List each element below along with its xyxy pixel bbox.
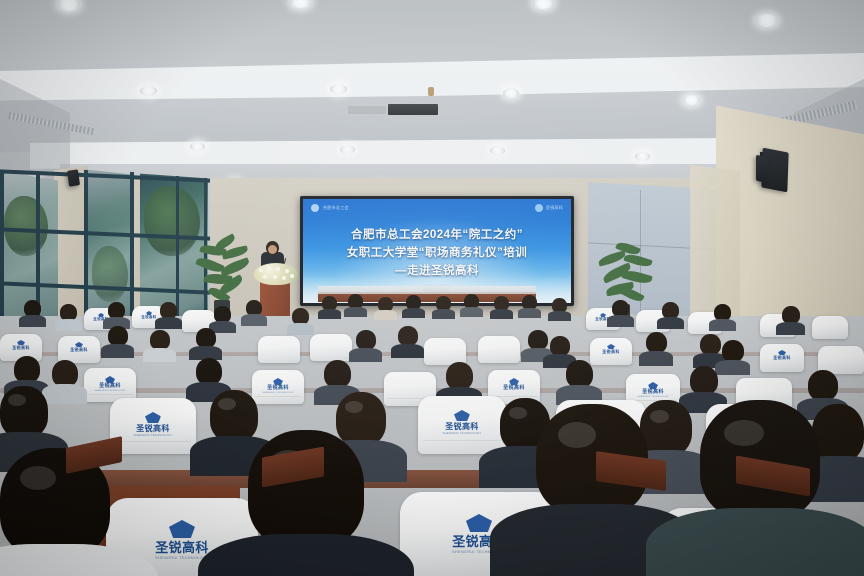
seat-logo: 圣锐高科 SHENGRUI TECHNOLOGY [637, 382, 668, 398]
attendee [690, 366, 718, 404]
seat-logo-english: SHENGRUI TECHNOLOGY [443, 432, 482, 435]
seat-logo-chinese: 圣锐高科 [155, 541, 209, 554]
ceiling-vent-box [348, 106, 386, 114]
seat: 圣锐高科 SHENGRUI TECHNOLOGY [252, 370, 304, 404]
seat: 圣锐高科 SHENGRUI TECHNOLOGY [110, 398, 196, 454]
company-logo-icon [535, 204, 543, 212]
attendee [552, 298, 567, 318]
seat-logo: 圣锐高科 SHENGRUI TECHNOLOGY [262, 378, 293, 394]
attendee [436, 296, 451, 316]
downlight [140, 86, 157, 96]
attendee [378, 297, 393, 317]
attendee [494, 296, 509, 316]
wall-mounted-loudspeaker [756, 155, 768, 184]
attendee [348, 294, 363, 314]
seat [310, 334, 352, 361]
sprinkler-head-icon [428, 87, 434, 96]
screen-title-line-1: 合肥市总工会2024年“院工之约” [303, 226, 571, 242]
attendee [700, 334, 721, 362]
attendee [292, 308, 309, 331]
attendee [528, 330, 548, 357]
seat: 圣锐高科 [760, 344, 804, 372]
seat-logo: 圣锐高科 SHENGRUI TECHNOLOGY [134, 412, 173, 437]
attendee [612, 300, 629, 323]
downlight [756, 14, 778, 27]
seat: 圣锐高科 [590, 338, 632, 365]
attendee [52, 360, 78, 395]
attendee [722, 340, 744, 369]
seat-logo-chinese: 圣锐高科 [136, 425, 170, 433]
seat-logo: 圣锐高科 SHENGRUI TECHNOLOGY [155, 520, 209, 560]
downlight [330, 84, 347, 94]
crown-emblem-icon [169, 520, 195, 538]
screen-logo-left: 合肥市总工会 [311, 204, 349, 212]
downlight [683, 95, 700, 105]
seat-logo: 圣锐高科 [503, 378, 525, 391]
downlight [290, 0, 311, 8]
attendee [446, 362, 473, 398]
seat-logo-chinese: 圣锐高科 [70, 348, 88, 352]
seat-logo-chinese: 圣锐高科 [12, 346, 30, 350]
seat-logo-chinese: 圣锐高科 [773, 356, 791, 360]
attendee [196, 328, 216, 355]
seat: 圣锐高科 SHENGRUI TECHNOLOGY [84, 368, 136, 402]
seat-logo-chinese: 圣锐高科 [267, 386, 289, 391]
attendee [160, 302, 177, 325]
downlight [340, 145, 355, 154]
seat [258, 336, 300, 363]
seat: 圣锐高科 SHENGRUI TECHNOLOGY [418, 396, 506, 454]
attendee [566, 360, 593, 396]
attendee [196, 358, 222, 393]
seat [478, 336, 520, 363]
attendee [646, 332, 667, 360]
seat-logo: 圣锐高科 [70, 342, 88, 352]
seat-logo-chinese: 圣锐高科 [141, 316, 156, 319]
crown-emblem-icon [145, 412, 161, 423]
attendee [398, 326, 418, 353]
attendee [714, 304, 731, 327]
conference-hall-photo: 合肥市总工会 圣锐高科 合肥市总工会2024年“院工之约” 女职工大学堂“职场商… [0, 0, 864, 576]
seat-logo: 圣锐高科 SHENGRUI TECHNOLOGY [94, 376, 125, 392]
attendee [464, 294, 479, 314]
stage-table-cloth [318, 286, 536, 294]
attendee [150, 330, 170, 357]
attendee [0, 386, 48, 452]
attendee [246, 300, 262, 322]
seat-logo-chinese: 圣锐高科 [642, 390, 664, 395]
seat-logo: 圣锐高科 [773, 350, 791, 360]
crown-emblem-icon [509, 378, 519, 385]
ceiling-projector [388, 104, 438, 115]
attendee [324, 360, 351, 396]
attendee [550, 336, 570, 363]
attendee [108, 302, 125, 325]
seat-logo: 圣锐高科 SHENGRUI TECHNOLOGY [443, 410, 482, 435]
seat-logo-english: SHENGRUI TECHNOLOGY [94, 390, 125, 392]
seat: 圣锐高科 [58, 336, 100, 363]
downlight [490, 146, 505, 155]
screen-title-line-3: —走进圣锐高科 [303, 262, 571, 278]
attendee [406, 295, 421, 315]
attendee [322, 296, 337, 316]
attendee [662, 302, 679, 325]
screen-title-line-2: 女职工大学堂“职场商务礼仪”培训 [303, 244, 571, 260]
seat-logo-english: SHENGRUI TECHNOLOGY [262, 392, 293, 394]
attendee [60, 304, 77, 327]
seat-logo-chinese: 圣锐高科 [503, 386, 525, 391]
seat-logo: 圣锐高科 [141, 311, 156, 319]
seat-logo-english: SHENGRUI TECHNOLOGY [134, 434, 173, 437]
wall-mounted-loudspeaker [67, 169, 80, 186]
seat [424, 338, 466, 365]
attendee [356, 330, 376, 357]
presenter-face [268, 245, 277, 254]
downlight [635, 152, 650, 161]
seat-logo: 圣锐高科 [12, 340, 30, 350]
attendee [108, 326, 128, 353]
downlight [190, 142, 205, 151]
floral-arrangement [254, 263, 298, 285]
seat-logo: 圣锐高科 [602, 344, 620, 354]
screen-logo-left-text: 合肥市总工会 [323, 205, 349, 211]
screen-logo-right: 圣锐高科 [535, 204, 563, 212]
screen-logo-right-text: 圣锐高科 [546, 205, 563, 211]
seat-logo-chinese: 圣锐高科 [445, 423, 479, 431]
seat-logo-chinese: 圣锐高科 [99, 384, 121, 389]
crown-emblem-icon [466, 514, 492, 532]
attendee [214, 306, 231, 329]
attendee [522, 295, 537, 315]
downlight [58, 0, 80, 11]
dome-logo-icon [311, 204, 319, 212]
seat [812, 316, 848, 339]
attendee [24, 300, 41, 323]
downlight [503, 88, 519, 98]
crown-emblem-icon [105, 376, 115, 383]
crown-emblem-icon [273, 378, 283, 385]
crown-emblem-icon [454, 410, 470, 421]
attendee [782, 306, 800, 330]
downlight [533, 0, 554, 9]
seat-logo-chinese: 圣锐高科 [602, 350, 620, 354]
crown-emblem-icon [648, 382, 658, 389]
seat-logo-english: SHENGRUI TECHNOLOGY [637, 396, 668, 398]
